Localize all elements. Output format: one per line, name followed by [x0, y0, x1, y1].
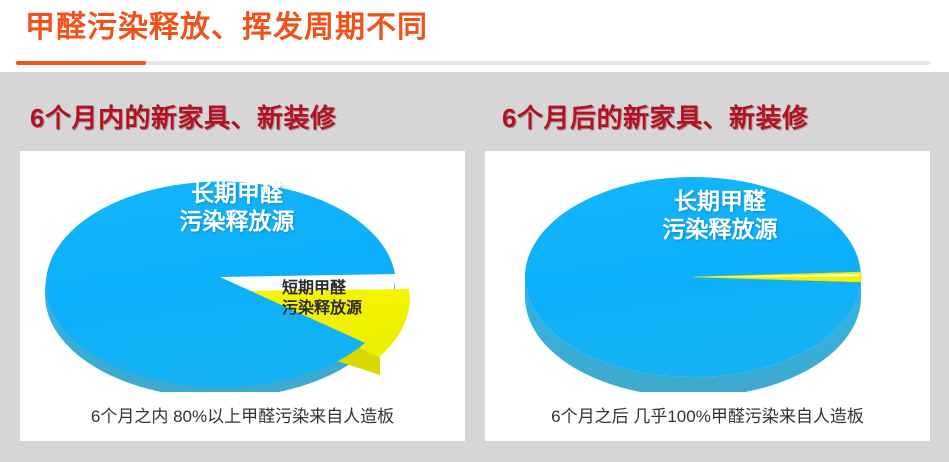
panel-header-right: 6个月后的新家具、新装修	[502, 98, 808, 135]
pie-chart-left: 长期甲醛 污染释放源 短期甲醛 污染释放源	[20, 157, 465, 392]
title-divider	[16, 61, 930, 65]
content-area: 6个月内的新家具、新装修 6个月后的新家具、新装修	[0, 72, 949, 462]
panel-caption-right: 6个月之后 几乎100%甲醛污染来自人造板	[485, 402, 930, 427]
title-band: 甲醛污染释放、挥发周期不同	[0, 0, 949, 72]
panel-card-right: 长期甲醛 污染释放源 6个月之后 几乎100%甲醛污染来自人造板	[485, 151, 930, 441]
panel-header-left: 6个月内的新家具、新装修	[30, 98, 336, 135]
title-divider-accent	[16, 61, 146, 65]
pie-chart-left-svg	[20, 157, 465, 392]
page-title: 甲醛污染释放、挥发周期不同	[25, 8, 428, 48]
infographic-page: 甲醛污染释放、挥发周期不同 6个月内的新家具、新装修 6个月后的新家具、新装修	[0, 0, 949, 462]
pie-chart-right-svg	[485, 157, 930, 392]
panel-card-left: 长期甲醛 污染释放源 短期甲醛 污染释放源 6个月之内 80%以上甲醛污染来自人…	[20, 151, 465, 441]
pie-chart-right: 长期甲醛 污染释放源	[485, 157, 930, 392]
pie-left-blue-slice	[46, 182, 395, 388]
panel-caption-left: 6个月之内 80%以上甲醛污染来自人造板	[20, 402, 465, 427]
